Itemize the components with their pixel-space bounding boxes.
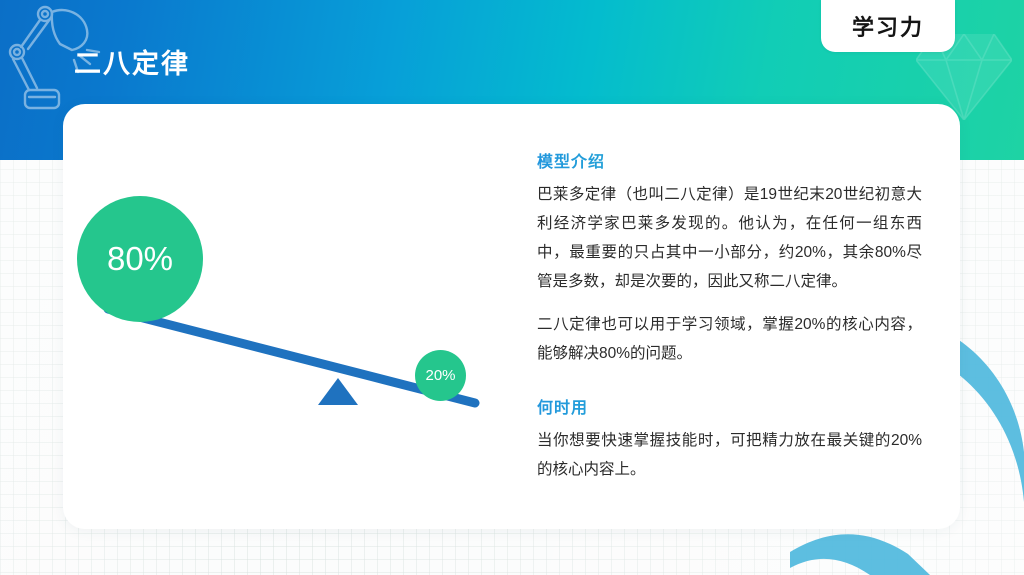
share-circle-80: 80% <box>77 196 203 322</box>
share-circle-20: 20% <box>415 350 466 401</box>
share-circle-20-label: 20% <box>425 367 455 384</box>
seesaw-fulcrum <box>318 378 358 405</box>
section1-paragraph-2: 二八定律也可以用于学习领域，掌握20%的核心内容，能够解决80%的问题。 <box>537 310 922 368</box>
page-title: 二八定律 <box>74 48 190 80</box>
section1-paragraph-1: 巴莱多定律（也叫二八定律）是19世纪末20世纪初意大利经济学家巴莱多发现的。他认… <box>537 180 922 296</box>
section-heading-when-to-use: 何时用 <box>537 394 922 418</box>
section2-paragraph-1: 当你想要快速掌握技能时，可把精力放在最关键的20%的核心内容上。 <box>537 426 922 484</box>
slide-root: 二八定律 学习力 80 <box>0 0 1024 575</box>
learning-power-badge[interactable]: 学习力 <box>821 0 955 52</box>
badge-label: 学习力 <box>852 10 924 42</box>
seesaw-illustration: 80% 20% <box>63 170 533 440</box>
share-circle-80-label: 80% <box>107 240 173 278</box>
text-content-column: 模型介绍 巴莱多定律（也叫二八定律）是19世纪末20世纪初意大利经济学家巴莱多发… <box>537 148 922 484</box>
section-heading-model-intro: 模型介绍 <box>537 148 922 172</box>
